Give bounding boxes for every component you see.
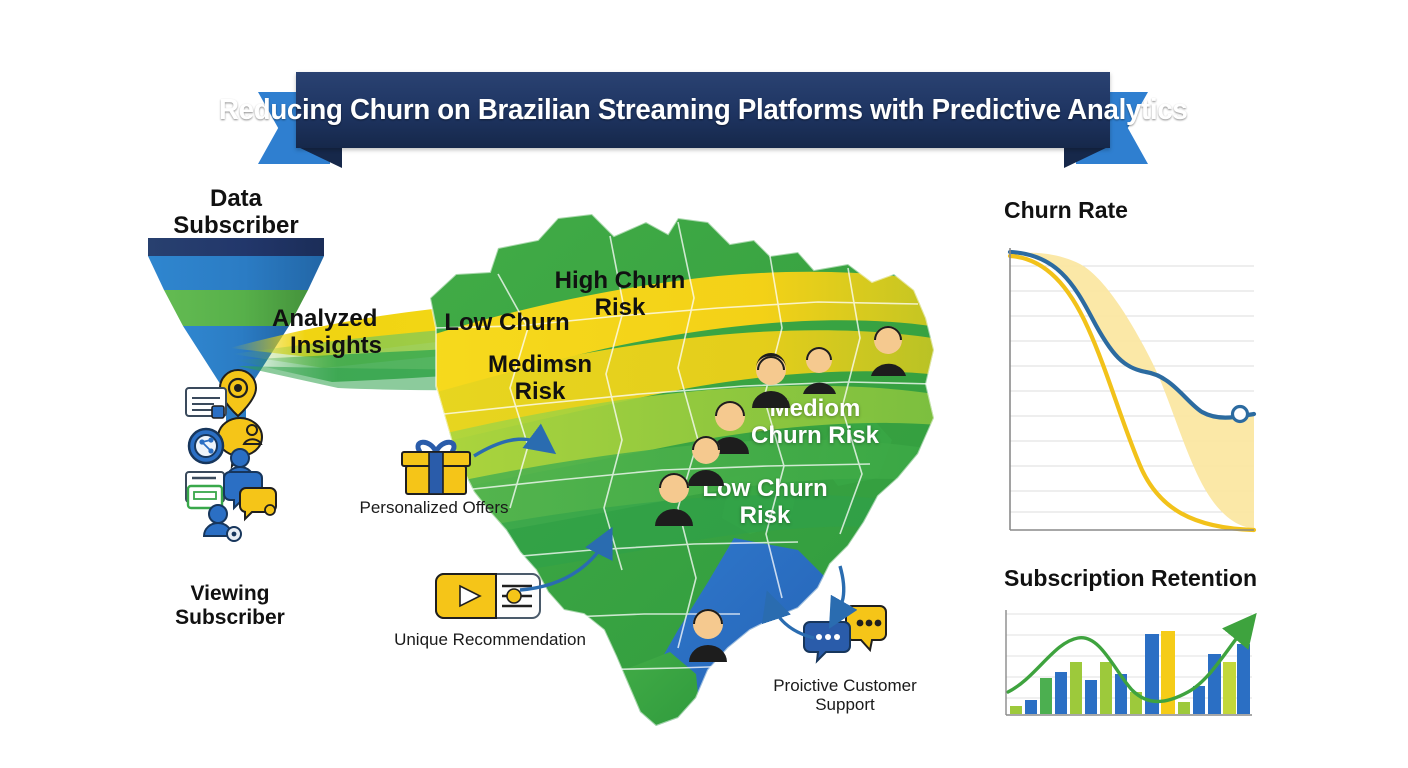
- arrow-recommendation-to-map: [520, 536, 608, 590]
- subscriber-marker: [655, 473, 693, 526]
- title-ribbon: Reducing Churn on Brazilian Streaming Pl…: [258, 72, 1148, 164]
- arrow-map-to-support: [834, 566, 844, 620]
- subscription-retention-chart: [996, 608, 1258, 720]
- churn-rate-chart: [996, 244, 1258, 534]
- form-document-icon: [186, 472, 224, 508]
- churn-area-fill: [1010, 252, 1254, 528]
- share-badge-icon: [189, 429, 223, 463]
- funnel-top-label: Data Subscriber: [148, 186, 324, 240]
- connector-arrows: [470, 430, 630, 630]
- subscriber-marker: [689, 609, 727, 662]
- churn-endpoint-marker: [1233, 407, 1248, 422]
- arrow-offers-to-map: [474, 439, 548, 456]
- gift-icon: [396, 436, 476, 498]
- funnel-band-blue-1: [148, 256, 324, 290]
- callout-label-proactive-support: Proictive Customer Support: [760, 676, 930, 714]
- page-title: Reducing Churn on Brazilian Streaming Pl…: [219, 94, 1188, 127]
- funnel-band-navy: [148, 238, 324, 256]
- subscriber-icon-cluster: [182, 368, 292, 548]
- user-settings-icon: [204, 505, 241, 541]
- map-label-low-churn-inland: Low Churn: [432, 310, 582, 337]
- title-banner: Reducing Churn on Brazilian Streaming Pl…: [296, 72, 1110, 148]
- retention-bars: [1010, 631, 1250, 714]
- subscription-retention-title: Subscription Retention: [1004, 566, 1284, 592]
- arrow-support-to-map: [770, 600, 814, 638]
- id-card-icon: [186, 388, 226, 418]
- subscriber-marker: [752, 353, 790, 408]
- subscriber-marker: [871, 326, 906, 376]
- callout-label-unique-recommendation: Unique Recommendation: [390, 630, 590, 649]
- viewing-subscriber-label: Viewing Subscriber: [150, 582, 310, 629]
- support-arrows: [750, 560, 890, 670]
- map-label-medium-churn-inland: Medimsn Risk: [470, 352, 610, 406]
- dual-chat-bubble-icon: [224, 472, 276, 519]
- infographic-canvas: Reducing Churn on Brazilian Streaming Pl…: [0, 0, 1408, 768]
- subscriber-marker: [803, 347, 836, 394]
- churn-rate-title: Churn Rate: [1004, 198, 1264, 224]
